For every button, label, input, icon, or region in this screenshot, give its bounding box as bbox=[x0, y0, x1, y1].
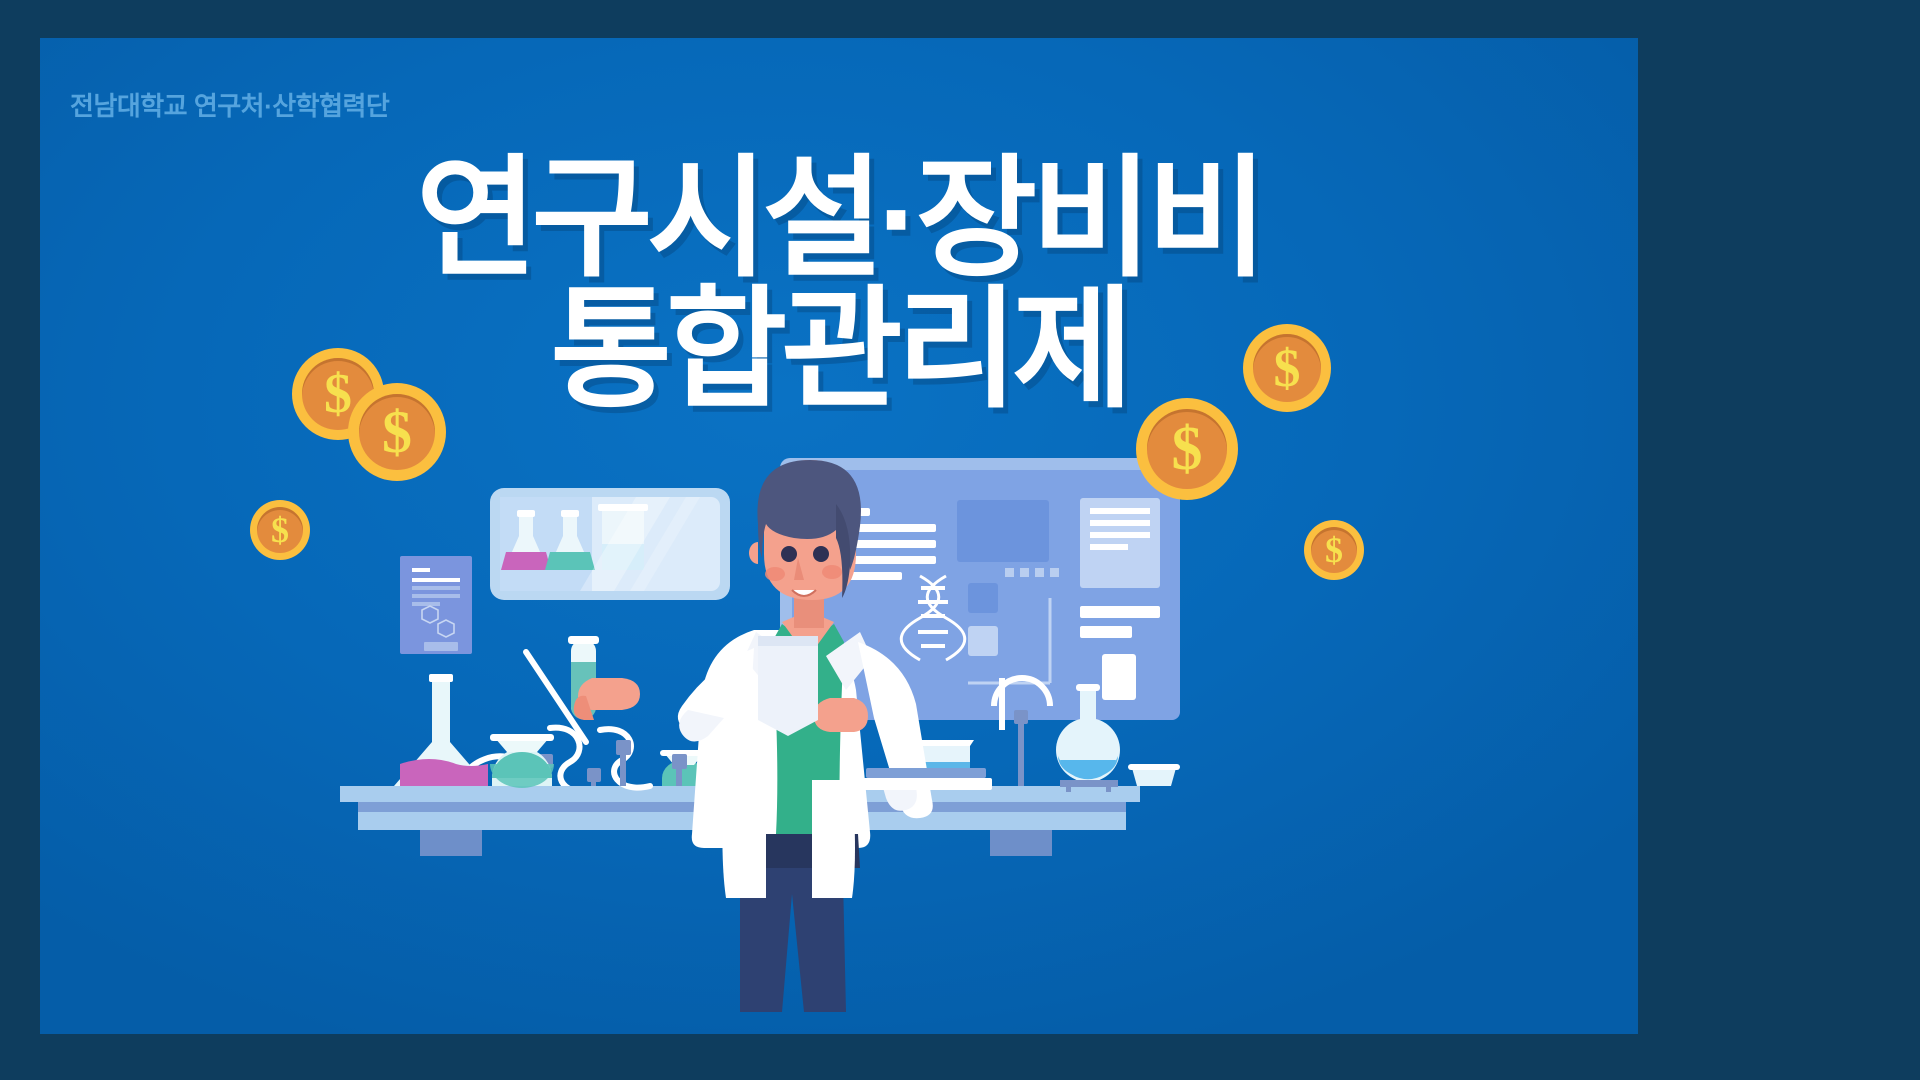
erlenmeyer-flask-pink bbox=[394, 674, 488, 786]
small-dish-right bbox=[1128, 764, 1180, 786]
wall-poster bbox=[400, 556, 472, 654]
coin-right-mid: $ bbox=[1136, 398, 1238, 500]
dollar-sign-icon: $ bbox=[1304, 520, 1364, 580]
poster-root: $ $ $ $ $ $ 전남대학교 연구처·산학협력단 bbox=[0, 0, 1920, 1080]
board-chart-panel bbox=[957, 500, 1049, 562]
dollar-sign-icon: $ bbox=[1243, 324, 1331, 412]
book-stack bbox=[860, 768, 992, 790]
clipboard-paper bbox=[758, 636, 818, 736]
coin-right-small: $ bbox=[1304, 520, 1364, 580]
dollar-sign-icon: $ bbox=[348, 383, 446, 481]
bench-clamp bbox=[616, 740, 687, 786]
board-document bbox=[1080, 498, 1160, 588]
coin-right-top: $ bbox=[1243, 324, 1331, 412]
poster-panel: $ $ $ $ $ $ 전남대학교 연구처·산학협력단 bbox=[40, 38, 1638, 1034]
dollar-sign-icon: $ bbox=[250, 500, 310, 560]
dollar-sign-icon: $ bbox=[1136, 398, 1238, 500]
round-flask-teal-a bbox=[490, 734, 554, 788]
coin-left-small: $ bbox=[250, 500, 310, 560]
glass-cabinet bbox=[490, 488, 730, 600]
organization-label: 전남대학교 연구처·산학협력단 bbox=[70, 86, 389, 123]
coin-left-lower: $ bbox=[348, 383, 446, 481]
